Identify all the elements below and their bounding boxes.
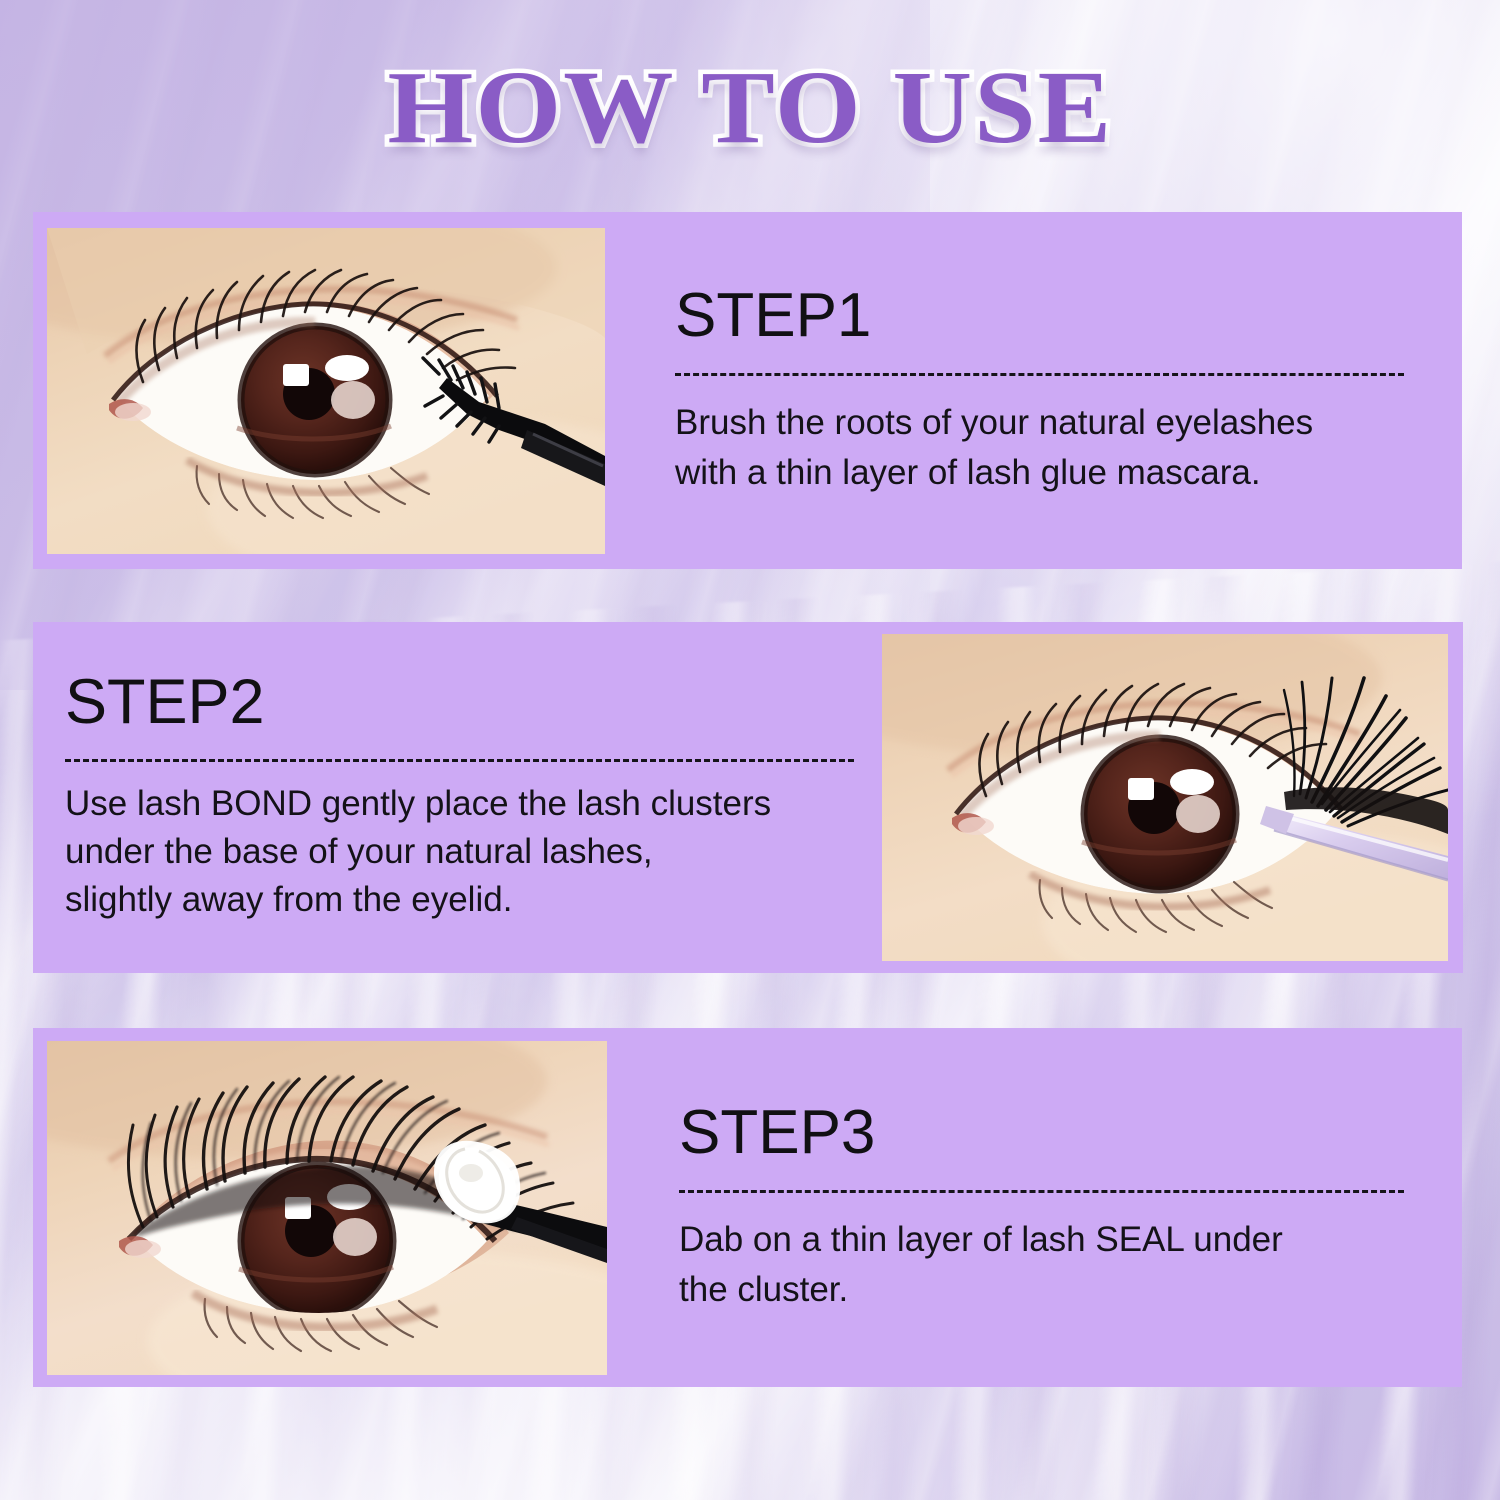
step-3-body: Dab on a thin layer of lash SEAL under t… bbox=[679, 1215, 1404, 1314]
step-1-text-column: STEP1 Brush the roots of your natural ey… bbox=[605, 284, 1462, 498]
step-3-heading: STEP3 bbox=[679, 1101, 1404, 1164]
step-2-text-column: STEP2 Use lash BOND gently place the las… bbox=[33, 670, 882, 924]
step-3-photo bbox=[47, 1041, 607, 1375]
step-2-heading: STEP2 bbox=[65, 670, 854, 734]
page-title: HOW TO USE bbox=[387, 56, 1113, 160]
step-2-photo bbox=[882, 634, 1448, 961]
eye-with-sealant-applicator-illustration bbox=[47, 1041, 607, 1375]
step-2-body: Use lash BOND gently place the lash clus… bbox=[65, 780, 854, 925]
step-panel-1: STEP1 Brush the roots of your natural ey… bbox=[33, 212, 1462, 569]
how-to-use-infographic: HOW TO USE bbox=[0, 0, 1500, 1500]
title-area: HOW TO USE bbox=[0, 56, 1500, 160]
step-3-text-column: STEP3 Dab on a thin layer of lash SEAL u… bbox=[607, 1101, 1462, 1315]
eye-with-tweezers-illustration bbox=[882, 634, 1448, 961]
step-1-photo bbox=[47, 228, 605, 554]
step-3-divider bbox=[679, 1190, 1404, 1193]
step-1-heading: STEP1 bbox=[675, 284, 1404, 347]
step-1-divider bbox=[675, 373, 1404, 376]
step-2-divider bbox=[65, 759, 854, 762]
step-panel-3: STEP3 Dab on a thin layer of lash SEAL u… bbox=[33, 1028, 1462, 1387]
step-1-body: Brush the roots of your natural eyelashe… bbox=[675, 398, 1404, 497]
step-panel-2: STEP2 Use lash BOND gently place the las… bbox=[33, 622, 1463, 973]
eye-with-spoolie-illustration bbox=[47, 228, 605, 554]
